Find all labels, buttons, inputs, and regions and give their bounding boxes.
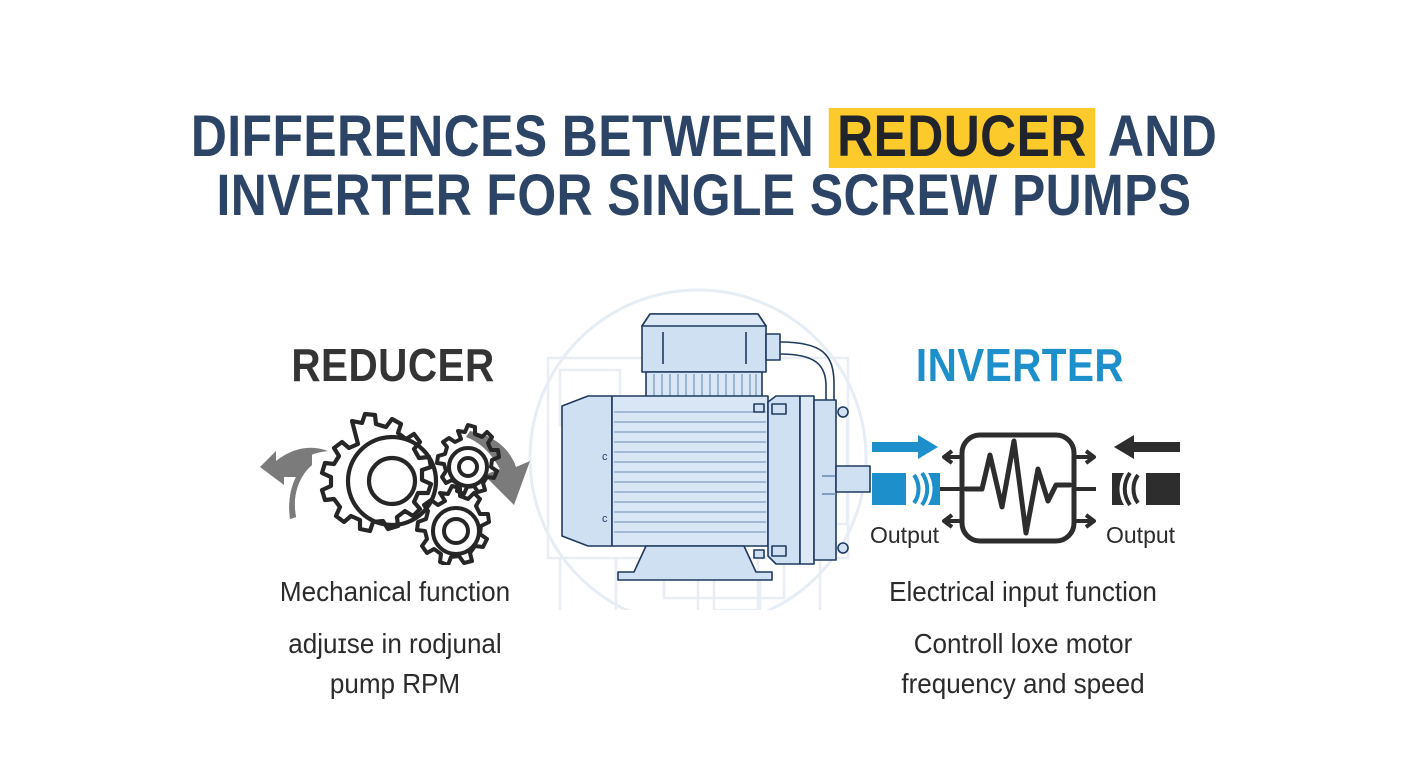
page-title: DIFFERENCES BETWEEN REDUCER AND INVERTER…	[0, 108, 1408, 224]
inverter-heading: INVERTER	[872, 338, 1168, 392]
output-label-left: Output	[870, 522, 940, 548]
gear-medium	[417, 486, 489, 565]
title-text-post: AND	[1095, 104, 1217, 169]
dark-wave-2	[1125, 473, 1130, 505]
motor-front-flange	[768, 396, 800, 564]
dark-block-left	[1112, 473, 1124, 505]
inverter-input-right: Output	[1106, 435, 1180, 548]
waveform-line	[966, 441, 1070, 533]
reducer-caption-line-2: adjuɪse in rodjunal	[232, 624, 558, 664]
blue-wave-1	[914, 475, 919, 503]
svg-text:c: c	[602, 513, 608, 525]
electric-motor-illustration: c c	[500, 280, 920, 615]
gears-svg	[232, 405, 532, 565]
motor-svg: c c	[500, 280, 920, 610]
output-label-right: Output	[1106, 522, 1176, 548]
inverter-svg: Output	[866, 425, 1186, 555]
inverter-caption-line-2: Controll loxe motor	[860, 624, 1186, 664]
blue-block-left	[872, 473, 906, 505]
dark-arrow-left-icon	[1114, 435, 1180, 459]
reducer-caption-line-1: Mechanical function	[232, 572, 558, 612]
blue-arrow-right-icon	[872, 435, 938, 459]
dark-wave-1	[1134, 475, 1139, 503]
dark-block-right	[1146, 473, 1180, 505]
title-line-1: DIFFERENCES BETWEEN REDUCER AND	[99, 108, 1310, 168]
waveform-box	[940, 435, 1096, 541]
inverter-caption: Electrical input function Controll loxe …	[860, 572, 1186, 703]
title-line-2: INVERTER FOR SINGLE SCREW PUMPS	[99, 168, 1310, 224]
gear-large	[322, 414, 436, 531]
reducer-caption-line-3: pump RPM	[232, 664, 558, 704]
title-text-pre: DIFFERENCES BETWEEN	[191, 104, 829, 169]
infographic-canvas: DIFFERENCES BETWEEN REDUCER AND INVERTER…	[0, 0, 1408, 768]
blue-block-right	[928, 473, 940, 505]
three-gears-icon	[232, 405, 532, 570]
inverter-caption-line-1: Electrical input function	[860, 572, 1186, 612]
inverter-input-left: Output	[870, 435, 940, 548]
reducer-caption: Mechanical function adjuɪse in rodjunal …	[232, 572, 558, 703]
motor-body	[612, 396, 768, 546]
waveform-box-icon: Output	[866, 425, 1186, 560]
motor-base	[618, 546, 772, 580]
reducer-heading: REDUCER	[248, 338, 538, 392]
inverter-caption-line-3: frequency and speed	[860, 664, 1186, 704]
blue-wave-2	[922, 473, 927, 505]
motor-shaft	[836, 466, 870, 492]
svg-text:c: c	[602, 451, 608, 463]
title-highlight-reducer: REDUCER	[829, 108, 1096, 168]
